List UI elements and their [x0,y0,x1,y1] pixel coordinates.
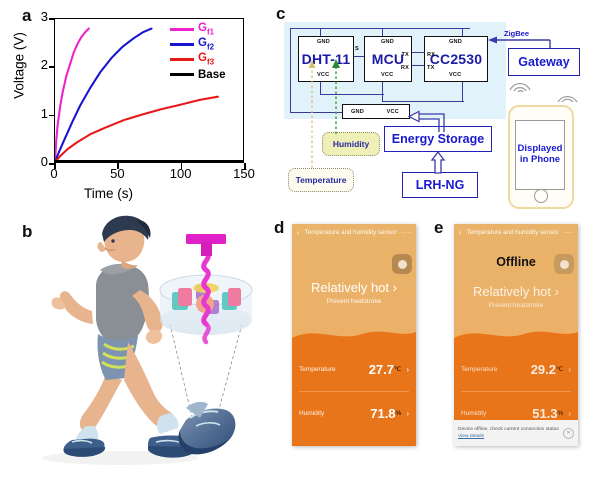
status-chevron-online: › [393,280,397,295]
temperature-unit-offline: ℃ [556,365,563,373]
shoe-device-zoom [160,234,252,342]
mcu-gnd-pin: GND [381,39,394,45]
offline-badge: Offline [454,255,578,269]
more-menu-icon-offline[interactable]: ··· [564,228,574,237]
reading-row-humidity-online[interactable]: Humidity 71.8 % › [292,391,416,435]
status-sub-online: Prevent heatstroke [292,298,416,305]
app-navbar-offline: ‹ Temperature and humidity sensor ··· [454,224,578,240]
chip-mcu: MCU GND VCC TX RX [364,36,412,82]
panel-label-e: e [434,218,443,238]
phone-speaker [526,112,556,115]
app-screen-online: ‹ Temperature and humidity sensor ··· Re… [292,224,416,446]
close-icon[interactable]: ✕ [563,428,574,439]
chip-cc2530-label: CC2530 [430,51,483,67]
view-details-link[interactable]: View details [458,434,484,439]
legend-label: Gf2 [198,37,214,51]
mcu-rx-pin: RX [401,65,409,71]
chart-x-axis-label: Time (s) [84,186,133,201]
power-toggle-button-online[interactable] [392,254,412,274]
cc2530-rx-pin: RX [427,52,435,58]
app-readings-online: Temperature 27.7 ℃ › Humidity 71.8 % › [292,347,416,446]
temperature-chevron-offline: › [568,365,571,374]
app-screen-offline: ‹ Temperature and humidity sensor ··· Of… [454,224,578,446]
running-shoe-callout [179,402,236,454]
chart-y-tick-mark [49,115,55,117]
gateway-box: Gateway [508,48,580,76]
phone-screen-line1: Displayed [518,143,563,154]
temperature-tag: Temperature [288,168,354,192]
panel-c-system-block-diagram: c DHT-11 GND VCC MCU GND VCC TX RX CC253… [272,0,600,212]
chart-x-tick-mark [54,163,56,169]
app-title-online: Temperature and humidity sensor [300,229,402,236]
legend-label: Base [198,69,226,81]
temperature-value-offline: 29.2 [531,362,556,377]
chart-y-tick-mark [49,66,55,68]
phone-screen-diagram: Displayed in Phone [515,120,565,190]
mcu-vcc-pin: VCC [381,72,393,78]
dht-gnd-drop [320,28,321,36]
chart-y-tick-label: 1 [20,106,48,121]
gnd-bus-wire [290,28,470,29]
offline-toast-text: Device offline, check current connection… [458,426,563,441]
panel-label-d: d [274,218,284,238]
lrh-ng-label: LRH-NG [416,178,465,192]
chart-legend: Gf1Gf2Gf3Base [170,22,248,82]
phone-mockup-diagram: Displayed in Phone [508,105,574,209]
chip-cc2530: CC2530 GND VCC RX TX [424,36,488,82]
cc-gnd-drop [462,28,463,36]
humidity-label-offline: Humidity [461,410,532,417]
chart-x-tick-mark [181,163,183,169]
humidity-value-offline: 51.3 [532,406,557,421]
legend-label: Gf1 [198,22,214,36]
rail-vcc-label: VCC [387,109,399,115]
legend-item: Base [170,67,248,82]
chart-y-tick-mark [49,18,55,20]
legend-color-swatch [170,73,194,75]
humidity-chevron-offline: › [568,409,571,418]
panel-label-a: a [22,6,31,26]
dune-divider-offline [454,322,578,348]
cc2530-gnd-pin: GND [449,39,462,45]
reading-row-temperature-online[interactable]: Temperature 27.7 ℃ › [292,347,416,391]
panel-d-app-online: d ‹ Temperature and humidity sensor ··· … [272,212,432,486]
humidity-chevron-online: › [406,409,409,418]
legend-color-swatch [170,28,194,30]
cc-vcc-drop [462,82,463,102]
storage-to-rail-arrow [406,106,448,132]
sensing-arrows [306,56,356,170]
cc2530-vcc-pin: VCC [449,72,461,78]
humidity-unit-online: % [396,410,402,417]
app-header-offline: ‹ Temperature and humidity sensor ··· Of… [454,224,578,347]
panel-label-b: b [22,222,32,242]
mcu-tx-pin: TX [401,52,409,58]
status-headline-text-online: Relatively hot [311,280,389,295]
status-headline-online: Relatively hot › [292,280,416,295]
status-block-offline[interactable]: Relatively hot › Prevent heatstroke [454,284,578,309]
status-chevron-offline: › [555,284,559,299]
uart-tx-wire [412,52,424,53]
chart-x-tick-mark [244,163,246,169]
mcu-vcc-drop [382,82,383,102]
lrh-to-storage-arrow [430,150,446,174]
chart-x-tick-mark [117,163,119,169]
gnd-bus-left-leg [290,28,291,82]
more-menu-icon[interactable]: ··· [402,228,412,237]
gateway-signal-icon [508,78,534,94]
temperature-unit-online: ℃ [394,365,401,373]
dune-divider-online [292,322,416,348]
phone-screen-text: Displayed in Phone [518,144,563,166]
power-icon [398,260,407,269]
legend-color-swatch [170,43,194,45]
temperature-label-offline: Temperature [461,366,531,373]
app-navbar-online: ‹ Temperature and humidity sensor ··· [292,224,416,240]
gateway-label: Gateway [518,55,569,69]
legend-item: Gf3 [170,52,248,67]
vcc-rail-right [382,101,464,102]
runner-figure [51,216,198,458]
panel-label-c: c [276,4,285,24]
phone-home-button [534,189,548,203]
phone-screen-line2: in Phone [520,154,560,165]
status-headline-offline: Relatively hot › [454,284,578,299]
phone-signal-icon [556,88,580,104]
offline-toast-message: Device offline, check current connection… [458,427,559,432]
gnd-down-left [290,81,291,113]
app-readings-offline: Temperature 29.2 ℃ › Humidity 51.3 % › D… [454,347,578,446]
temperature-label-online: Temperature [299,366,369,373]
legend-color-swatch [170,58,194,60]
legend-item: Gf2 [170,37,248,52]
status-headline-text-offline: Relatively hot [473,284,551,299]
offline-toast: Device offline, check current connection… [454,420,578,446]
panel-a-voltage-chart: a Voltage (V) Time (s) Gf1Gf2Gf3Base 012… [0,0,272,212]
signal-pin-label: S [355,46,359,52]
lrh-ng-box: LRH-NG [402,172,478,198]
legend-item: Gf1 [170,22,248,37]
chart-y-tick-label: 2 [20,57,48,72]
temperature-tag-label: Temperature [296,175,347,185]
app-header-online: ‹ Temperature and humidity sensor ··· Re… [292,224,416,347]
panel-b-runner-illustration: b [0,212,272,486]
cc2530-tx-pin: TX [427,65,435,71]
runner-with-shoe-device-svg [0,212,272,486]
uart-rx-wire [412,65,424,66]
energy-storage-label: Energy Storage [392,132,484,146]
temperature-value-online: 27.7 [369,362,394,377]
dht11-gnd-pin: GND [317,39,330,45]
humidity-unit-offline: % [558,410,564,417]
chip-mcu-label: MCU [372,51,404,67]
temperature-chevron-online: › [406,365,409,374]
app-title-offline: Temperature and humidity sensor [462,229,564,236]
legend-label: Gf3 [198,52,214,66]
panel-e-app-offline: e ‹ Temperature and humidity sensor ··· … [432,212,600,486]
status-block-online[interactable]: Relatively hot › Prevent heatstroke [292,280,416,305]
status-sub-offline: Prevent heatstroke [454,302,578,309]
reading-row-temperature-offline[interactable]: Temperature 29.2 ℃ › [454,347,578,391]
mcu-gnd-drop [382,28,383,36]
humidity-value-online: 71.8 [370,406,395,421]
humidity-label-online: Humidity [299,410,370,417]
